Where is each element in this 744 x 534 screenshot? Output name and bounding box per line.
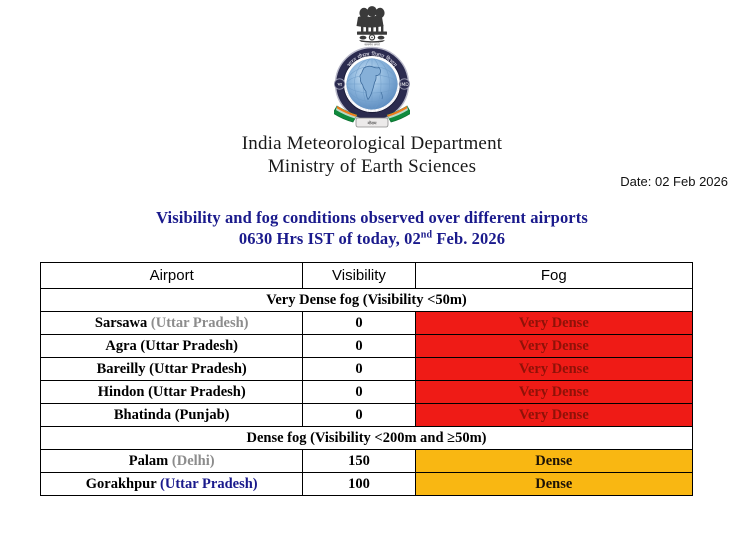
report-title-line2-suffix: Feb. 2026 [432,229,505,248]
report-title: Visibility and fog conditions observed o… [0,207,744,249]
airport-name: Sarsawa [95,315,147,331]
table-row: Bhatinda (Punjab)0Very Dense [41,404,693,427]
cell-fog-category: Very Dense [415,381,692,404]
airport-name: Bhatinda [114,407,171,423]
cell-visibility: 0 [303,404,415,427]
cell-airport: Palam (Delhi) [41,450,303,473]
airport-state: (Uttar Pradesh) [160,476,258,492]
airport-state: (Uttar Pradesh) [140,338,238,354]
report-title-line2-prefix: 0630 Hrs IST of today, 02 [239,229,421,248]
section-banner-label: Dense fog (Visibility <200m and ≥50m) [41,427,693,450]
cell-visibility: 100 [303,473,415,496]
cell-fog-category: Dense [415,473,692,496]
cell-airport: Agra (Uttar Pradesh) [41,335,303,358]
cell-fog-category: Very Dense [415,404,692,427]
airport-name: Bareilly [97,361,146,377]
ordinal-suffix: nd [421,230,432,241]
cell-airport: Gorakhpur (Uttar Pradesh) [41,473,303,496]
airport-state: (Uttar Pradesh) [151,315,249,331]
table-row: Palam (Delhi)150Dense [41,450,693,473]
section-banner-row: Very Dense fog (Visibility <50m) [41,289,693,312]
emblem-stack: सत्यमेव जयते [334,4,410,130]
airport-state: (Uttar Pradesh) [149,361,247,377]
cell-fog-category: Very Dense [415,312,692,335]
airport-name: Gorakhpur [86,476,157,492]
cell-visibility: 0 [303,335,415,358]
section-banner-label: Very Dense fog (Visibility <50m) [41,289,693,312]
column-header-airport: Airport [41,263,303,289]
cell-visibility: 150 [303,450,415,473]
emblem-block: सत्यमेव जयते [0,4,744,135]
cell-fog-category: Very Dense [415,358,692,381]
cell-visibility: 0 [303,358,415,381]
imd-globe-emblem: भारत मौसम विज्ञान विभाग INDIA METEOROLOG… [334,44,410,130]
cell-fog-category: Dense [415,450,692,473]
airport-name: Palam [129,453,168,469]
table-header-row: Airport Visibility Fog [41,263,693,289]
cell-visibility: 0 [303,312,415,335]
table-row: Sarsawa (Uttar Pradesh)0Very Dense [41,312,693,335]
svg-text:मौसम: मौसम [368,120,377,125]
section-banner-row: Dense fog (Visibility <200m and ≥50m) [41,427,693,450]
airport-name: Hindon [98,384,145,400]
svg-text:IMD: IMD [400,82,409,88]
column-header-fog: Fog [415,263,692,289]
table-row: Agra (Uttar Pradesh)0Very Dense [41,335,693,358]
cell-airport: Sarsawa (Uttar Pradesh) [41,312,303,335]
table-row: Gorakhpur (Uttar Pradesh)100Dense [41,473,693,496]
cell-airport: Bhatinda (Punjab) [41,404,303,427]
airport-name: Agra [105,338,136,354]
report-title-line2: 0630 Hrs IST of today, 02nd Feb. 2026 [0,228,744,249]
organization-name: India Meteorological Department [0,132,744,155]
fog-conditions-table: Airport Visibility Fog Very Dense fog (V… [40,262,693,496]
table-body: Very Dense fog (Visibility <50m)Sarsawa … [41,289,693,496]
cell-visibility: 0 [303,381,415,404]
column-header-visibility: Visibility [303,263,415,289]
airport-state: (Uttar Pradesh) [148,384,246,400]
ashoka-pillar-emblem: सत्यमेव जयते [334,4,410,46]
table-row: Hindon (Uttar Pradesh)0Very Dense [41,381,693,404]
airport-state: (Delhi) [172,453,215,469]
table-header: Airport Visibility Fog [41,263,693,289]
table-row: Bareilly (Uttar Pradesh)0Very Dense [41,358,693,381]
cell-airport: Hindon (Uttar Pradesh) [41,381,303,404]
report-title-line1: Visibility and fog conditions observed o… [0,207,744,228]
cell-airport: Bareilly (Uttar Pradesh) [41,358,303,381]
cell-fog-category: Very Dense [415,335,692,358]
report-date: Date: 02 Feb 2026 [620,174,728,189]
department-heading: India Meteorological Department Ministry… [0,132,744,178]
airport-state: (Punjab) [175,407,230,423]
